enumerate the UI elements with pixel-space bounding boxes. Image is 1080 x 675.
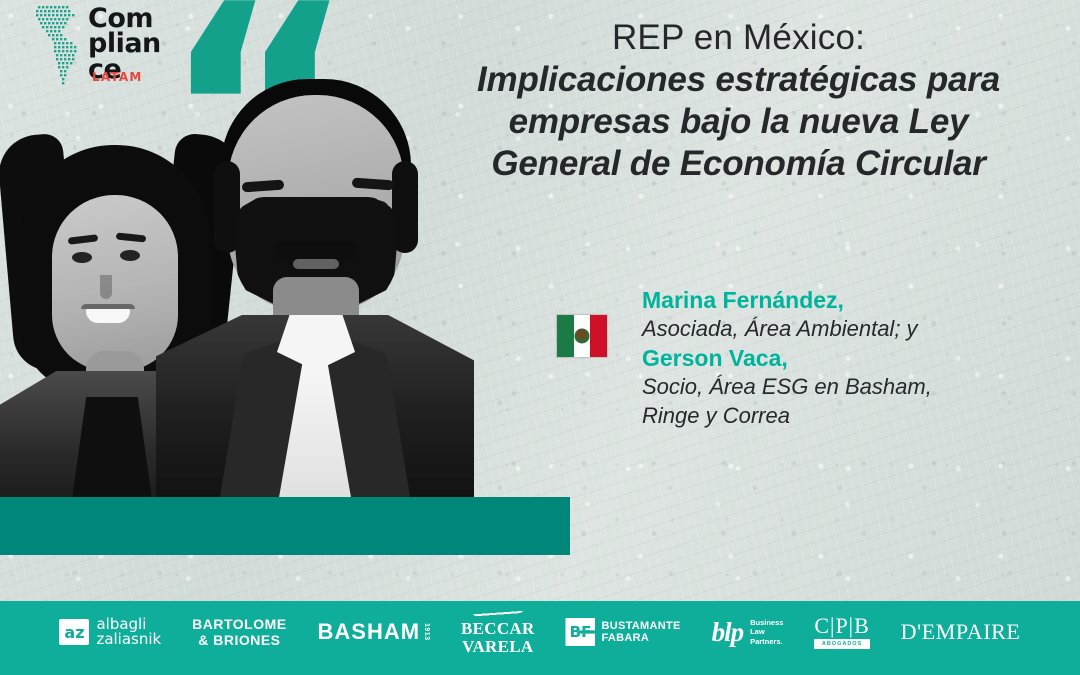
basham-year: 1913	[423, 623, 430, 641]
sponsor-logo-bar: az albagli zaliasnik BARTOLOME & BRIONES…	[0, 601, 1080, 675]
speaker-1-name: Marina Fernández,	[642, 286, 1056, 315]
title-line-2: Implicaciones estratégicas para	[415, 59, 1062, 101]
blp-line-1: Business	[750, 618, 783, 627]
sponsor-row-2: ECIJA Posse &	[0, 665, 1080, 675]
cpb-letters: C|P|B	[814, 615, 869, 637]
blp-line-2: Law	[750, 627, 783, 636]
logo-bustamante-fabara[interactable]: BF BUSTAMANTE FABARA	[565, 618, 680, 646]
blp-mark: blp	[712, 617, 744, 648]
bustamante-mark: BF	[565, 618, 595, 646]
logo-bartolome-briones[interactable]: BARTOLOME & BRIONES	[192, 616, 286, 648]
compliance-latam-logo[interactable]: Com plian ce LATAM	[22, 4, 184, 88]
title-line-4: General de Economía Circular	[415, 143, 1062, 185]
logo-beccar-varela[interactable]: BECCAR VARELA	[461, 609, 535, 656]
title-line-3: empresas bajo la nueva Ley	[415, 101, 1062, 143]
speaker-2-name: Gerson Vaca,	[642, 344, 1056, 373]
speaker-2-role-line-1: Socio, Área ESG en Basham,	[642, 373, 1056, 402]
beccar-swoosh-icon	[470, 607, 526, 620]
logo-basham[interactable]: BASHAM 1913	[318, 619, 431, 645]
basham-word: BASHAM	[318, 619, 421, 645]
albagli-mark: az	[59, 619, 89, 645]
bartolome-line-2: & BRIONES	[192, 632, 286, 648]
speaker-2-role-line-2: Ringe y Correa	[642, 402, 1056, 431]
logo-cpb[interactable]: C|P|B ABOGADOS	[814, 615, 869, 649]
blp-line-3: Partners.	[750, 637, 783, 646]
speaker-1-role: Asociada, Área Ambiental; y	[642, 315, 1056, 344]
logo-blp[interactable]: blp Business Law Partners.	[712, 617, 784, 648]
bartolome-line-1: BARTOLOME	[192, 616, 286, 632]
mexico-flag-icon	[556, 314, 608, 358]
page-title: REP en México: Implicaciones estratégica…	[415, 18, 1062, 185]
beccar-line-2: VARELA	[461, 638, 535, 656]
title-line-1: REP en México:	[415, 18, 1062, 59]
cpb-sublabel: ABOGADOS	[814, 639, 869, 649]
americas-dotted-map-icon	[32, 4, 96, 88]
speaker-photos	[0, 78, 470, 521]
bustamante-line-2: FABARA	[601, 632, 680, 644]
sponsor-row-1: az albagli zaliasnik BARTOLOME & BRIONES…	[0, 609, 1080, 655]
albagli-word-2: zaliasnik	[96, 632, 161, 647]
logo-dempaire[interactable]: D'EMPAIRE	[901, 619, 1021, 645]
bustamante-line-1: BUSTAMANTE	[601, 620, 680, 632]
speakers-block: Marina Fernández, Asociada, Área Ambient…	[556, 286, 1056, 431]
brand-line-2: plian	[88, 31, 161, 56]
teal-accent-bar	[0, 497, 570, 555]
beccar-line-1: BECCAR	[461, 620, 535, 638]
brand-latam-label: LATAM	[92, 70, 142, 84]
logo-albagli-zaliasnik[interactable]: az albagli zaliasnik	[59, 617, 161, 648]
